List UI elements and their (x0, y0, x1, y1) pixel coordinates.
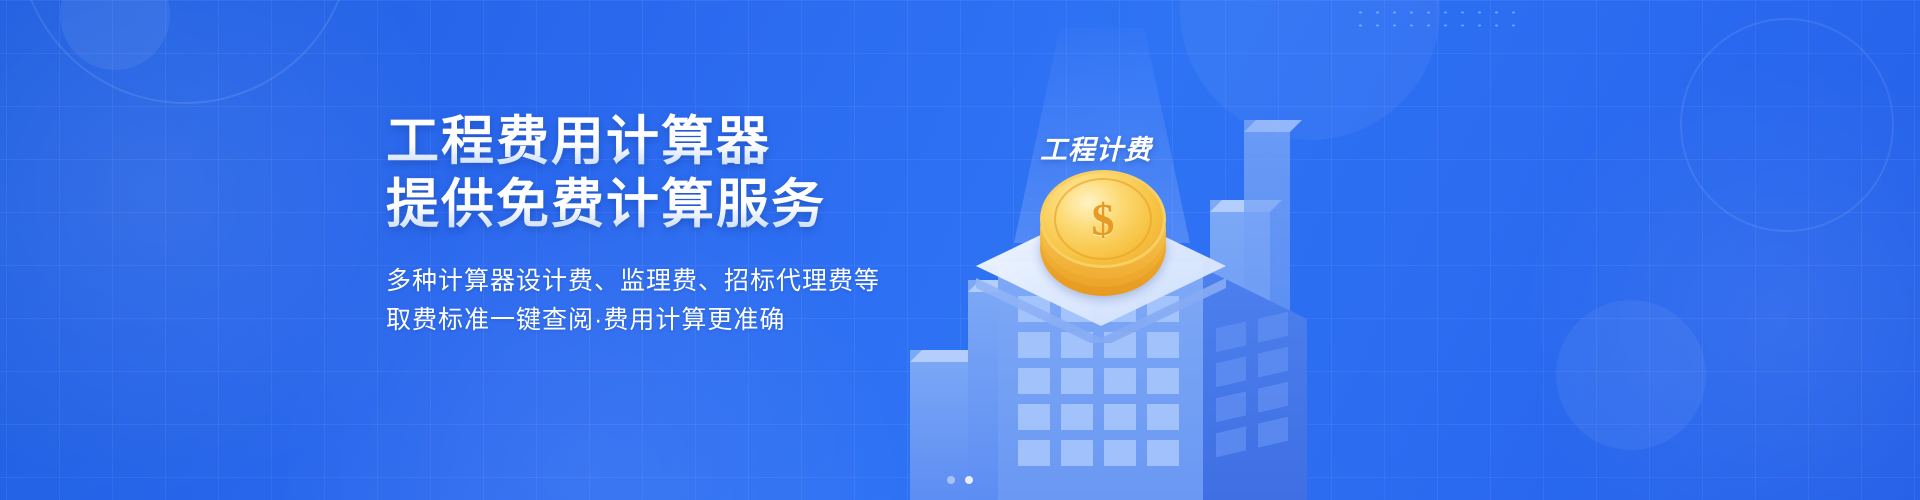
banner-illustration: $ 工程计费 (880, 0, 1920, 500)
building-window (1061, 440, 1093, 466)
building-window (1061, 368, 1093, 394)
building-side-window (1258, 382, 1288, 413)
building-side-window-grid (1216, 312, 1288, 458)
coin-face-top: $ (1040, 170, 1166, 268)
building-window (1018, 332, 1050, 358)
building-window (1147, 440, 1179, 466)
deco-column-cap (1244, 120, 1302, 132)
carousel-dots[interactable] (947, 476, 973, 484)
building-side-window (1216, 391, 1246, 422)
building-window (1147, 332, 1179, 358)
building-window (1018, 404, 1050, 430)
building-window (1018, 368, 1050, 394)
illustration-badge-label: 工程计费 (1040, 128, 1152, 167)
building-window (1147, 404, 1179, 430)
building-side-window (1216, 356, 1246, 387)
building-window (1104, 440, 1136, 466)
building-window (1104, 368, 1136, 394)
carousel-dot-2[interactable] (965, 476, 973, 484)
building-window (1018, 440, 1050, 466)
building-window (1061, 404, 1093, 430)
carousel-dot-1[interactable] (947, 476, 955, 484)
building-window (1104, 404, 1136, 430)
promo-banner: 工程费用计算器 提供免费计算服务 多种计算器设计费、监理费、招标代理费等 取费标… (0, 0, 1920, 500)
dollar-sign-icon: $ (1043, 173, 1163, 265)
coin-stack: $ (1040, 176, 1166, 298)
building-side-window (1258, 347, 1288, 378)
building-window (1147, 368, 1179, 394)
